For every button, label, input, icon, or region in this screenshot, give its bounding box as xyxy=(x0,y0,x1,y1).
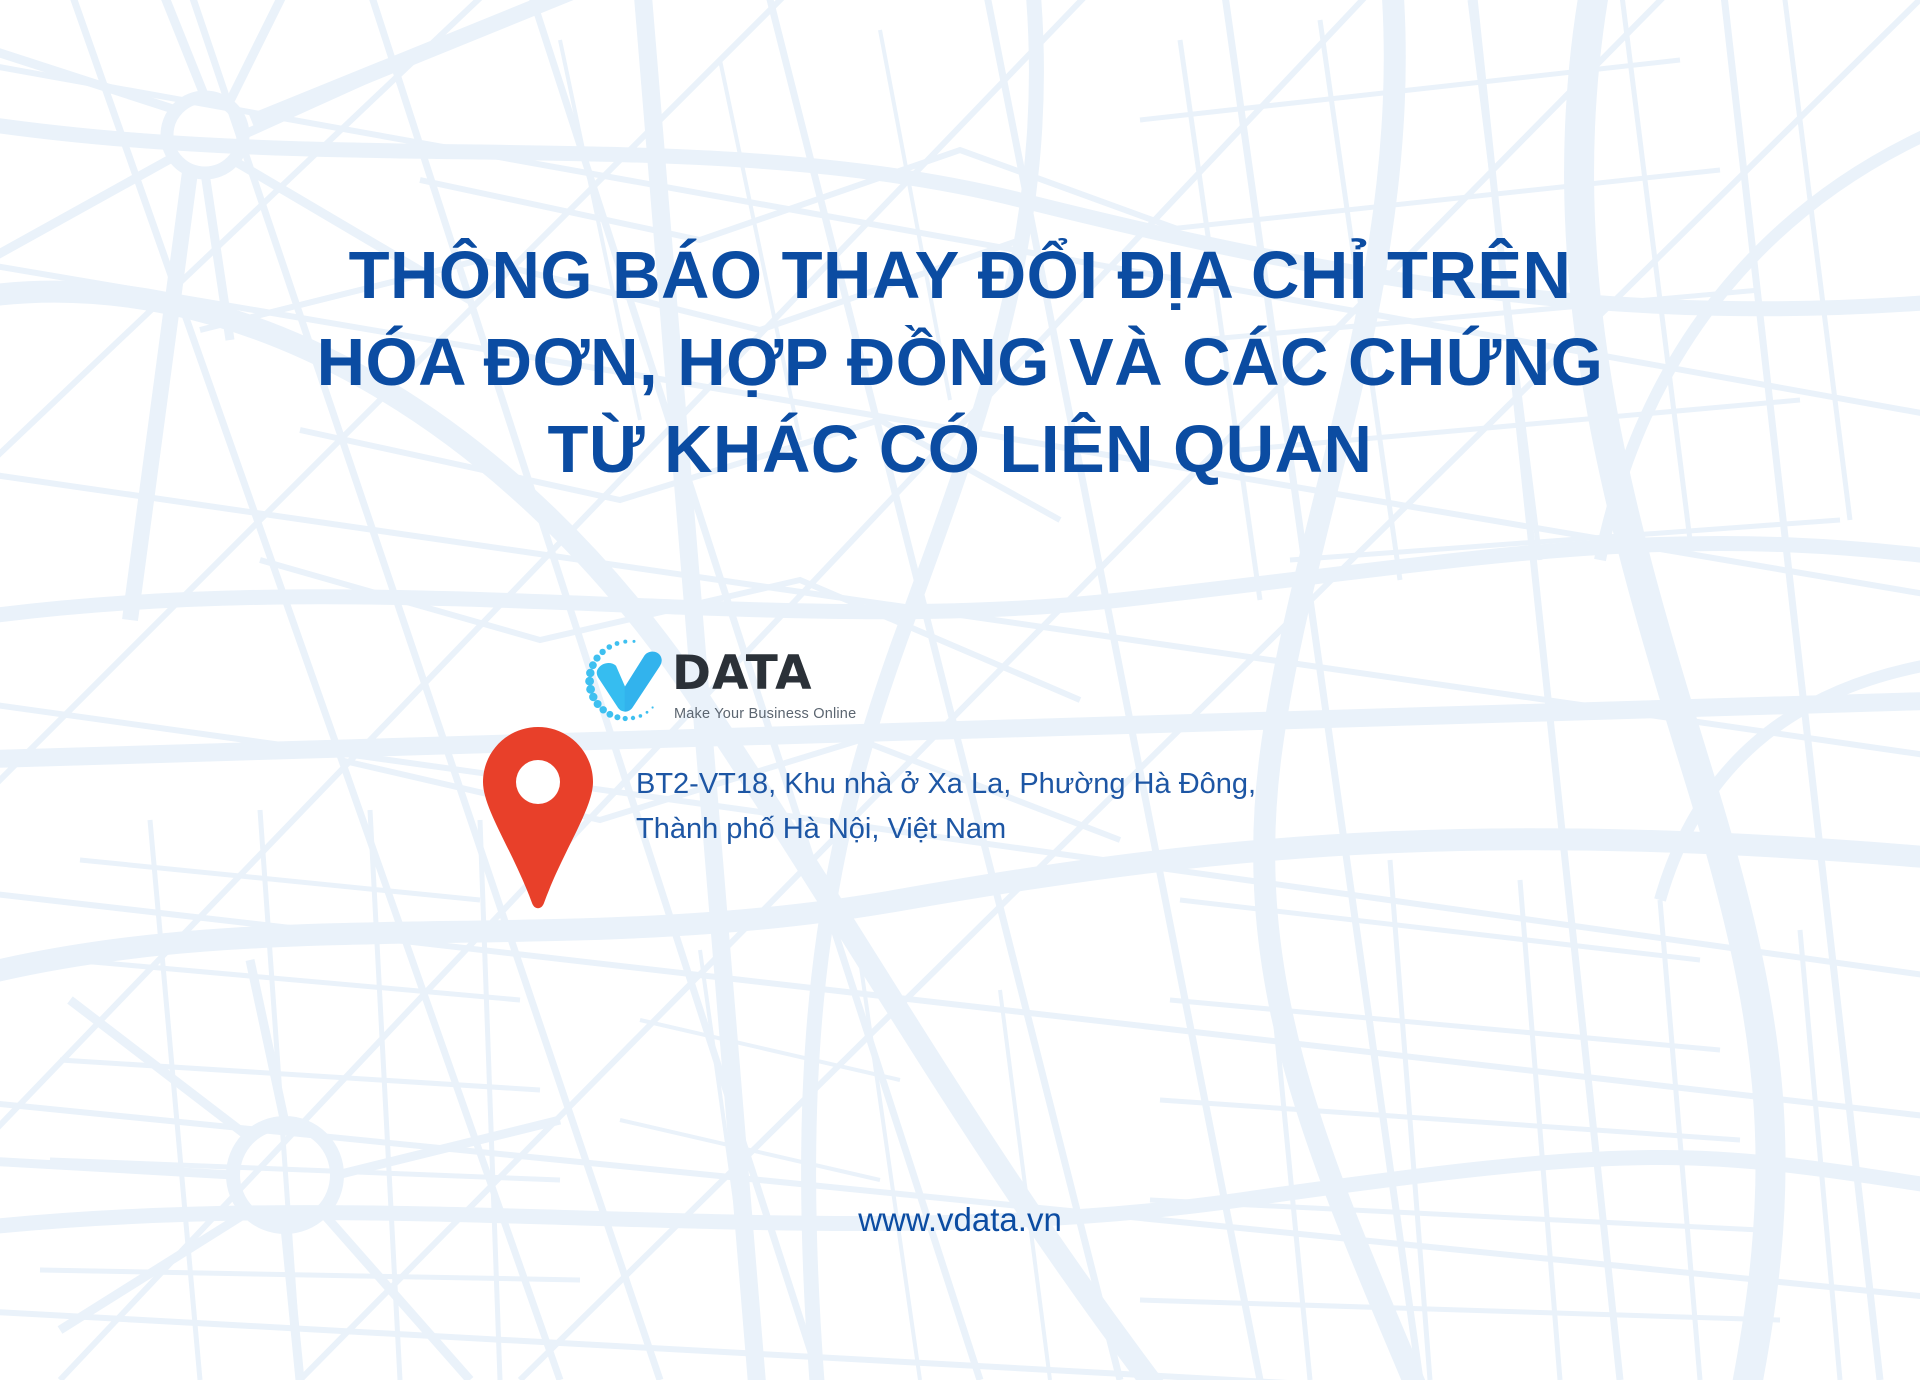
vdata-logo: DATA Make Your Business Online xyxy=(578,636,848,736)
logo-tagline: Make Your Business Online xyxy=(674,706,856,722)
title-line-1: THÔNG BÁO THAY ĐỔI ĐỊA CHỈ TRÊN xyxy=(0,232,1920,319)
vdata-logo-mark xyxy=(578,636,670,736)
page-title: THÔNG BÁO THAY ĐỔI ĐỊA CHỈ TRÊN HÓA ĐƠN,… xyxy=(0,232,1920,493)
logo-wordmark: DATA xyxy=(672,650,813,697)
logo-text-wrap: DATA Make Your Business Online xyxy=(672,636,856,722)
address-line-2: Thành phố Hà Nội, Việt Nam xyxy=(636,807,1336,852)
map-pin-icon xyxy=(483,727,593,917)
title-line-3: TỪ KHÁC CÓ LIÊN QUAN xyxy=(0,406,1920,493)
check-mark-icon xyxy=(597,652,662,712)
company-address: BT2-VT18, Khu nhà ở Xa La, Phường Hà Đôn… xyxy=(636,762,1336,852)
address-line-1: BT2-VT18, Khu nhà ở Xa La, Phường Hà Đôn… xyxy=(636,762,1336,807)
announcement-poster: THÔNG BÁO THAY ĐỔI ĐỊA CHỈ TRÊN HÓA ĐƠN,… xyxy=(0,0,1920,1380)
map-background xyxy=(0,0,1920,1380)
website-url[interactable]: www.vdata.vn xyxy=(0,1200,1920,1240)
title-line-2: HÓA ĐƠN, HỢP ĐỒNG VÀ CÁC CHỨNG xyxy=(0,319,1920,406)
